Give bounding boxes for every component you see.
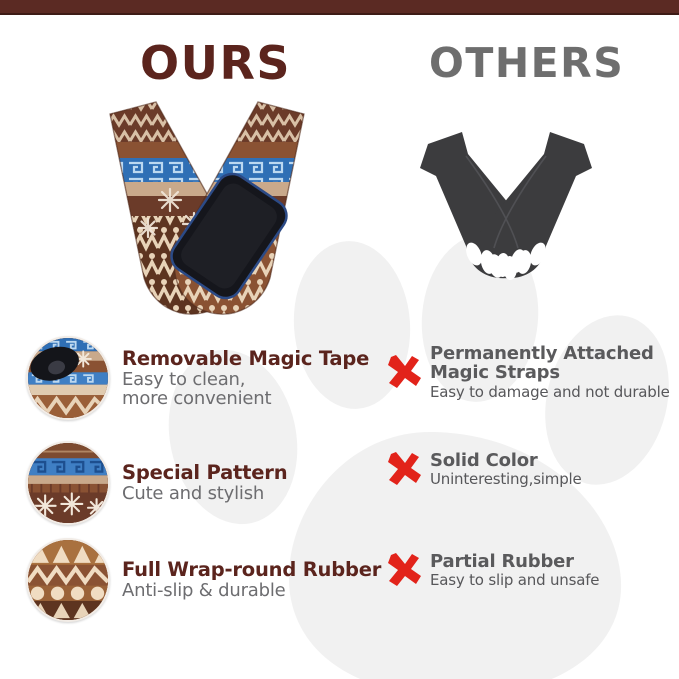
hero-image-others-socks [414,128,598,300]
top-accent-rule [0,13,679,15]
feature-subtitle-others-2: Uninteresting,simple [430,471,582,487]
top-accent-bar [0,0,679,13]
feature-subtitle-ours-2: Cute and stylish [122,484,287,503]
feature-text-others-1: Permanently Attached Magic Straps Easy t… [430,344,670,400]
feature-row-others-1: Permanently Attached Magic Straps Easy t… [385,344,670,400]
feature-title-ours-1: Removable Magic Tape [122,348,369,369]
feature-row-others-3: Partial Rubber Easy to slip and unsafe [385,551,599,589]
feature-title-others-2-line1: Solid Color [430,451,582,470]
feature-row-ours-2: Special Pattern Cute and stylish [26,441,287,525]
page-title-ours: OURS [140,40,291,86]
feature-title-others-3-line1: Partial Rubber [430,552,599,571]
feature-row-ours-3: Full Wrap-round Rubber Anti-slip & durab… [26,538,381,622]
thumb-velcro-strap-knit [26,336,110,420]
thumb-greek-key-snowflake-knit [26,441,110,525]
feature-row-others-2: Solid Color Uninteresting,simple [385,450,582,488]
feature-title-others-1-line1: Permanently Attached [430,344,670,363]
red-x-icon [385,353,423,391]
page-title-others: OTHERS [429,43,624,84]
feature-text-ours-3: Full Wrap-round Rubber Anti-slip & durab… [122,559,381,600]
feature-title-others-1-line2: Magic Straps [430,363,670,382]
feature-text-others-3: Partial Rubber Easy to slip and unsafe [430,552,599,589]
feature-title-ours-3: Full Wrap-round Rubber [122,559,381,580]
feature-text-ours-1: Removable Magic Tape Easy to clean, more… [122,348,369,409]
feature-text-ours-2: Special Pattern Cute and stylish [122,462,287,503]
infographic-page: OURS OTHERS [0,0,679,679]
feature-row-ours-1: Removable Magic Tape Easy to clean, more… [26,336,369,420]
thumb-chevron-rubber-sole [26,538,110,622]
feature-subtitle-others-3: Easy to slip and unsafe [430,572,599,588]
feature-title-ours-2: Special Pattern [122,462,287,483]
feature-subtitle-ours-3: Anti-slip & durable [122,581,381,600]
red-x-icon [385,450,423,488]
feature-text-others-2: Solid Color Uninteresting,simple [430,451,582,488]
feature-subtitle-ours-1: Easy to clean, more convenient [122,370,369,409]
feature-subtitle-others-1: Easy to damage and not durable [430,384,670,400]
red-x-icon [385,551,423,589]
hero-image-ours-socks [86,96,328,324]
